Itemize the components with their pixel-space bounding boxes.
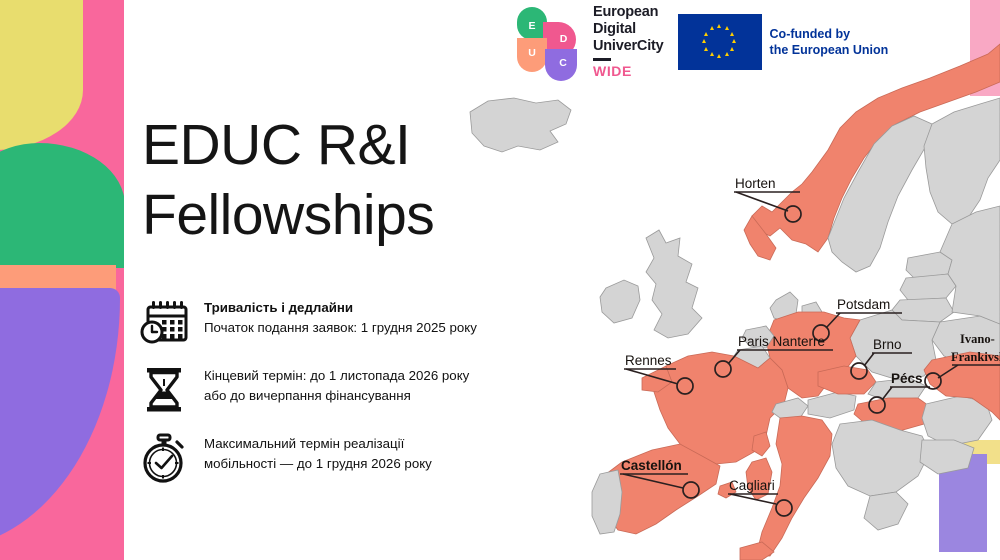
eu-star-icon	[732, 39, 736, 43]
decor-shape-yellow	[0, 0, 83, 150]
city-name-pecs: Pécs	[891, 371, 923, 386]
eu-cofunded-text: Co-funded by the European Union	[770, 26, 889, 58]
eu-star-icon	[725, 26, 729, 30]
educ-blob-u: U	[517, 38, 547, 72]
decor-shape-purple	[0, 288, 120, 548]
page-title-line1: EDUC R&I	[142, 110, 434, 180]
city-name-ivano: Ivano-	[960, 332, 995, 346]
educ-logo-mark: E D U C	[515, 5, 579, 79]
hourglass-icon	[138, 364, 190, 416]
bullet-text-mobility: Максимальний термін реалізації мобільнос…	[204, 432, 478, 474]
city-name-paris-nanterre: Paris Nanterre	[738, 334, 825, 349]
country-iceland	[470, 98, 571, 152]
eu-star-icon	[725, 52, 729, 56]
eu-star-icon	[710, 26, 714, 30]
educ-word-univercity: UniverCity	[593, 38, 664, 55]
educ-word-european: European	[593, 4, 664, 21]
bullet-body-mobility: Максимальний термін реалізації мобільнос…	[204, 434, 478, 474]
educ-word-digital: Digital	[593, 21, 664, 38]
eu-cofunded-logo: Co-funded by the European Union	[678, 14, 889, 70]
europe-map: Horten Potsdam Paris Nanterre	[440, 0, 1000, 560]
city-name-castellon: Castellón	[621, 458, 682, 473]
page-title-line2: Fellowships	[142, 180, 434, 250]
eu-text-line1: Co-funded by	[770, 26, 889, 42]
eu-star-icon	[717, 54, 721, 58]
eu-star-icon	[704, 47, 708, 51]
country-lithuania	[892, 298, 954, 322]
eu-star-icon	[730, 47, 734, 51]
calendar-clock-icon	[138, 296, 190, 348]
city-name-frankivsk: Frankivsk	[951, 350, 1000, 364]
educ-blob-c: C	[545, 49, 577, 81]
city-name-rennes: Rennes	[625, 353, 672, 368]
city-name-potsdam: Potsdam	[837, 297, 890, 312]
country-finland	[924, 98, 1000, 224]
city-name-horten: Horten	[735, 176, 776, 191]
educ-word-wide: WIDE	[593, 63, 664, 80]
decor-shape-green	[0, 143, 124, 268]
country-ireland	[600, 280, 640, 323]
info-bullet-list: Тривалість і дедлайни Початок подання за…	[138, 296, 478, 500]
bullet-body-deadline: Кінцевий термін: до 1 листопада 2026 рок…	[204, 366, 478, 406]
eu-flag-icon	[678, 14, 762, 70]
slide-root: Horten Potsdam Paris Nanterre	[0, 0, 1000, 560]
country-corsica	[752, 432, 770, 456]
bullet-text-deadline: Кінцевий термін: до 1 листопада 2026 рок…	[204, 364, 478, 406]
country-balkans	[832, 420, 930, 496]
educ-divider-rule	[593, 58, 611, 61]
city-name-cagliari: Cagliari	[729, 478, 775, 493]
bullet-item-mobility: Максимальний термін реалізації мобільнос…	[138, 432, 478, 484]
eu-star-icon	[717, 24, 721, 28]
eu-star-icon	[702, 39, 706, 43]
left-decorative-band	[0, 0, 124, 560]
header-logo-bar: E D U C European Digital UniverCity WIDE…	[515, 4, 888, 79]
country-latvia	[900, 274, 956, 300]
educ-logo-wordmark: European Digital UniverCity WIDE	[593, 4, 664, 79]
eu-star-icon	[710, 52, 714, 56]
eu-text-line2: the European Union	[770, 42, 889, 58]
city-name-brno: Brno	[873, 337, 902, 352]
eu-star-icon	[730, 32, 734, 36]
country-greece	[864, 492, 908, 530]
page-title: EDUC R&I Fellowships	[142, 110, 434, 250]
bullet-heading-duration: Тривалість і дедлайни	[204, 298, 477, 318]
bullet-item-duration: Тривалість і дедлайни Початок подання за…	[138, 296, 478, 348]
country-united-kingdom	[646, 230, 702, 338]
eu-star-icon	[704, 32, 708, 36]
bullet-body-duration: Початок подання заявок: 1 грудня 2025 ро…	[204, 318, 477, 338]
stopwatch-icon	[138, 432, 190, 484]
country-bulgaria-se	[920, 440, 974, 474]
bullet-item-deadline: Кінцевий термін: до 1 листопада 2026 рок…	[138, 364, 478, 416]
bullet-text-duration: Тривалість і дедлайни Початок подання за…	[204, 296, 477, 338]
